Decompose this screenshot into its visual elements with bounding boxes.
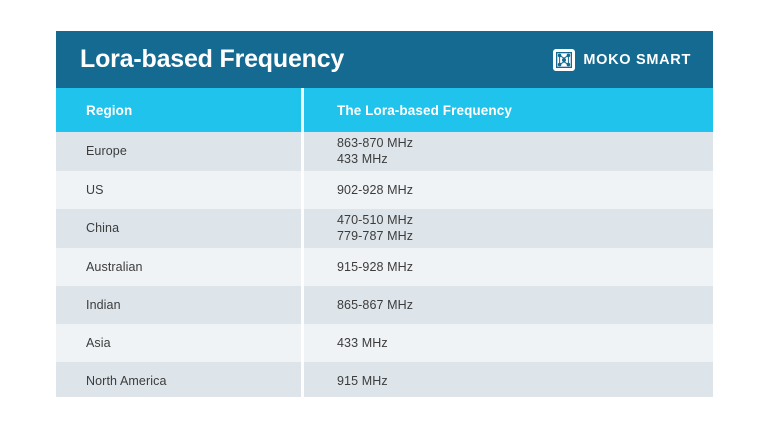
card-header: Lora-based Frequency bbox=[56, 31, 713, 88]
table-row: Indian 865-867 MHz bbox=[56, 286, 713, 324]
cell-region: North America bbox=[56, 374, 301, 389]
cell-region: China bbox=[56, 221, 301, 236]
cell-frequency: 915 MHz bbox=[301, 374, 713, 389]
brand-logo: MOKO SMART bbox=[553, 49, 691, 71]
table-row: Asia 433 MHz bbox=[56, 324, 713, 362]
column-header-region: Region bbox=[56, 88, 301, 132]
table-row: North America 915 MHz bbox=[56, 362, 713, 397]
cell-frequency: 470-510 MHz 779-787 MHz bbox=[301, 213, 713, 244]
cell-region: US bbox=[56, 183, 301, 198]
table-row: Australian 915-928 MHz bbox=[56, 248, 713, 286]
cell-region: Indian bbox=[56, 298, 301, 313]
page-title: Lora-based Frequency bbox=[80, 45, 344, 74]
table-row: Europe 863-870 MHz 433 MHz bbox=[56, 132, 713, 171]
moko-network-logo-icon bbox=[553, 49, 575, 71]
column-header-frequency: The Lora-based Frequency bbox=[301, 88, 713, 132]
frequency-table: Region The Lora-based Frequency Europe 8… bbox=[56, 88, 713, 397]
cell-region: Europe bbox=[56, 144, 301, 159]
frequency-table-card: Lora-based Frequency bbox=[56, 31, 713, 397]
table-row: US 902-928 MHz bbox=[56, 171, 713, 209]
cell-region: Asia bbox=[56, 336, 301, 351]
cell-frequency: 433 MHz bbox=[301, 336, 713, 351]
page-root: Lora-based Frequency bbox=[0, 0, 768, 430]
cell-frequency: 863-870 MHz 433 MHz bbox=[301, 136, 713, 167]
cell-frequency: 915-928 MHz bbox=[301, 260, 713, 275]
cell-frequency: 865-867 MHz bbox=[301, 298, 713, 313]
cell-frequency: 902-928 MHz bbox=[301, 183, 713, 198]
brand-name: MOKO SMART bbox=[583, 52, 691, 68]
cell-region: Australian bbox=[56, 260, 301, 275]
table-header-row: Region The Lora-based Frequency bbox=[56, 88, 713, 132]
table-row: China 470-510 MHz 779-787 MHz bbox=[56, 209, 713, 248]
